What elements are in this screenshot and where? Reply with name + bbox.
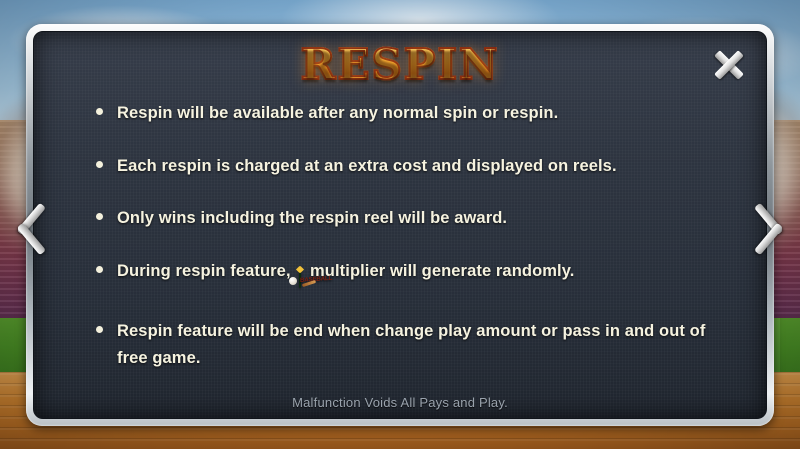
baseball-symbol-card: BASEBALL [299,268,301,288]
list-item: Only wins including the respin reel will… [96,205,732,232]
malfunction-notice: Malfunction Voids All Pays and Play. [34,395,766,410]
bullet-dot-icon [96,161,103,168]
rule-text-3: Only wins including the respin reel will… [117,205,507,232]
bullet-dot-icon [96,266,103,273]
paytable-panel-body: RESPIN Respin will be available after an… [33,31,767,419]
bullet-dot-icon [96,326,103,333]
list-item: During respin feature, BASEBALL [96,258,732,292]
game-screen: RESPIN Respin will be available after an… [0,0,800,449]
baseball-scatter-symbol: BASEBALL [299,265,301,292]
chevron-left-icon[interactable] [6,200,40,258]
rule-text-2: Each respin is charged at an extra cost … [117,153,617,180]
chevron-right-icon[interactable] [760,200,794,258]
close-icon[interactable] [710,46,748,84]
list-item: Respin feature will be end when change p… [96,318,732,371]
rule-text-1: Respin will be available after any norma… [117,100,558,127]
rule-text-4-after: multiplier will generate randomly. [310,262,574,280]
rule-text-5: Respin feature will be end when change p… [117,318,732,371]
bullet-dot-icon [96,108,103,115]
rule-text-4-before: During respin feature, [117,262,291,280]
bullet-dot-icon [96,213,103,220]
rules-list: Respin will be available after any norma… [96,100,732,397]
paytable-panel: RESPIN Respin will be available after an… [26,24,774,426]
list-item: Each respin is charged at an extra cost … [96,153,732,180]
list-item: Respin will be available after any norma… [96,100,732,127]
page-title: RESPIN [34,40,766,89]
rule-text-4: During respin feature, BASEBALL [117,258,574,292]
